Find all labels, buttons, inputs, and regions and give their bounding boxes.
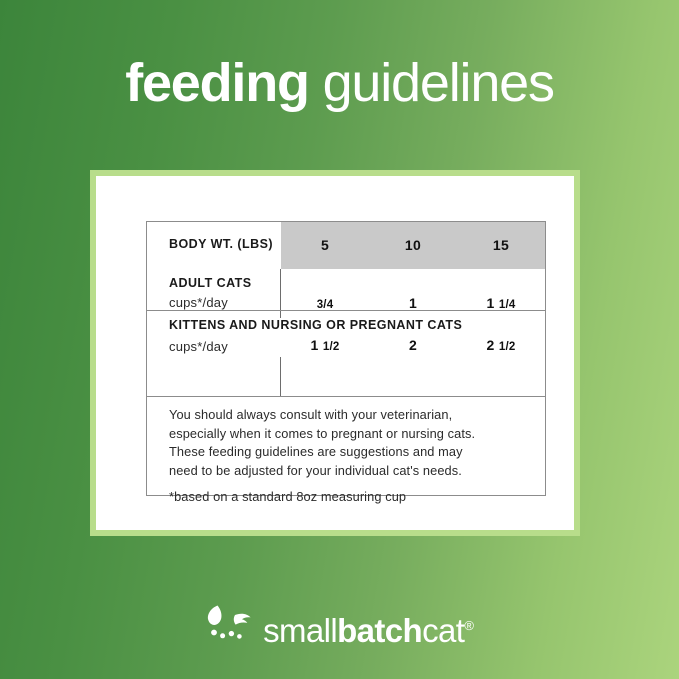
table-row-divider-2 <box>147 396 545 397</box>
cell-fraction: 1/2 <box>499 341 516 353</box>
guidelines-card: BODY WT. (LBS) 5 10 15 ADULT CATS cups*/… <box>96 176 574 530</box>
row-values-adult-cats: 3/4 1 1 1/4 <box>281 295 545 311</box>
brand-wordmark: smallbatchcat® <box>263 609 474 648</box>
table-cell: 2 1/2 <box>457 337 545 353</box>
cat-leaf-logo-icon <box>205 602 261 646</box>
row-sublabel-kittens: cups*/day <box>169 339 228 354</box>
table-cell: 1 1/4 <box>457 295 545 311</box>
header-weight-value: 10 <box>369 237 457 253</box>
row-label-adult-cats: ADULT CATS <box>169 276 252 290</box>
row-values-kittens: 1 1/2 2 2 1/2 <box>281 337 545 353</box>
page-title: feeding guidelines <box>0 52 679 114</box>
header-weight-values: 5 10 15 <box>281 237 545 253</box>
table-vertical-divider-lower <box>280 357 281 396</box>
page-title-light: guidelines <box>309 53 554 113</box>
cell-fraction: 1/2 <box>323 341 340 353</box>
row-sublabel-adult-cats: cups*/day <box>169 295 228 310</box>
feeding-table: BODY WT. (LBS) 5 10 15 ADULT CATS cups*/… <box>146 221 546 496</box>
cell-fraction: 3/4 <box>317 299 334 311</box>
note-line: need to be adjusted for your individual … <box>169 462 531 481</box>
feeding-guidelines-page: feeding guidelines BODY WT. (LBS) 5 10 1… <box>0 0 679 679</box>
table-cell: 2 <box>369 337 457 353</box>
header-weight-value: 5 <box>281 237 369 253</box>
guidelines-card-frame: BODY WT. (LBS) 5 10 15 ADULT CATS cups*/… <box>90 170 580 536</box>
header-weight-value: 15 <box>457 237 545 253</box>
feeding-note: You should always consult with your vete… <box>169 406 531 507</box>
note-line: especially when it comes to pregnant or … <box>169 425 531 444</box>
page-title-bold: feeding <box>125 53 309 113</box>
cell-whole: 2 <box>487 337 495 353</box>
brand-text-small: small <box>263 612 337 649</box>
brand-text-cat: cat <box>422 612 464 649</box>
table-cell: 1 <box>369 295 457 311</box>
cell-whole: 1 <box>487 295 495 311</box>
cell-whole: 1 <box>409 295 417 311</box>
note-line: You should always consult with your vete… <box>169 406 531 425</box>
note-line: These feeding guidelines are suggestions… <box>169 443 531 462</box>
table-cell: 3/4 <box>281 295 369 311</box>
note-footnote: *based on a standard 8oz measuring cup <box>169 488 531 507</box>
row-label-kittens: KITTENS AND NURSING OR PREGNANT CATS <box>169 318 466 332</box>
registered-trademark-icon: ® <box>464 618 474 633</box>
table-cell: 1 1/2 <box>281 337 369 353</box>
header-label-body-weight: BODY WT. (LBS) <box>169 237 273 251</box>
cell-whole: 1 <box>311 337 319 353</box>
cell-fraction: 1/4 <box>499 299 516 311</box>
brand-text-batch: batch <box>337 612 422 649</box>
cell-whole: 2 <box>409 337 417 353</box>
brand-logo: smallbatchcat® <box>0 588 679 648</box>
